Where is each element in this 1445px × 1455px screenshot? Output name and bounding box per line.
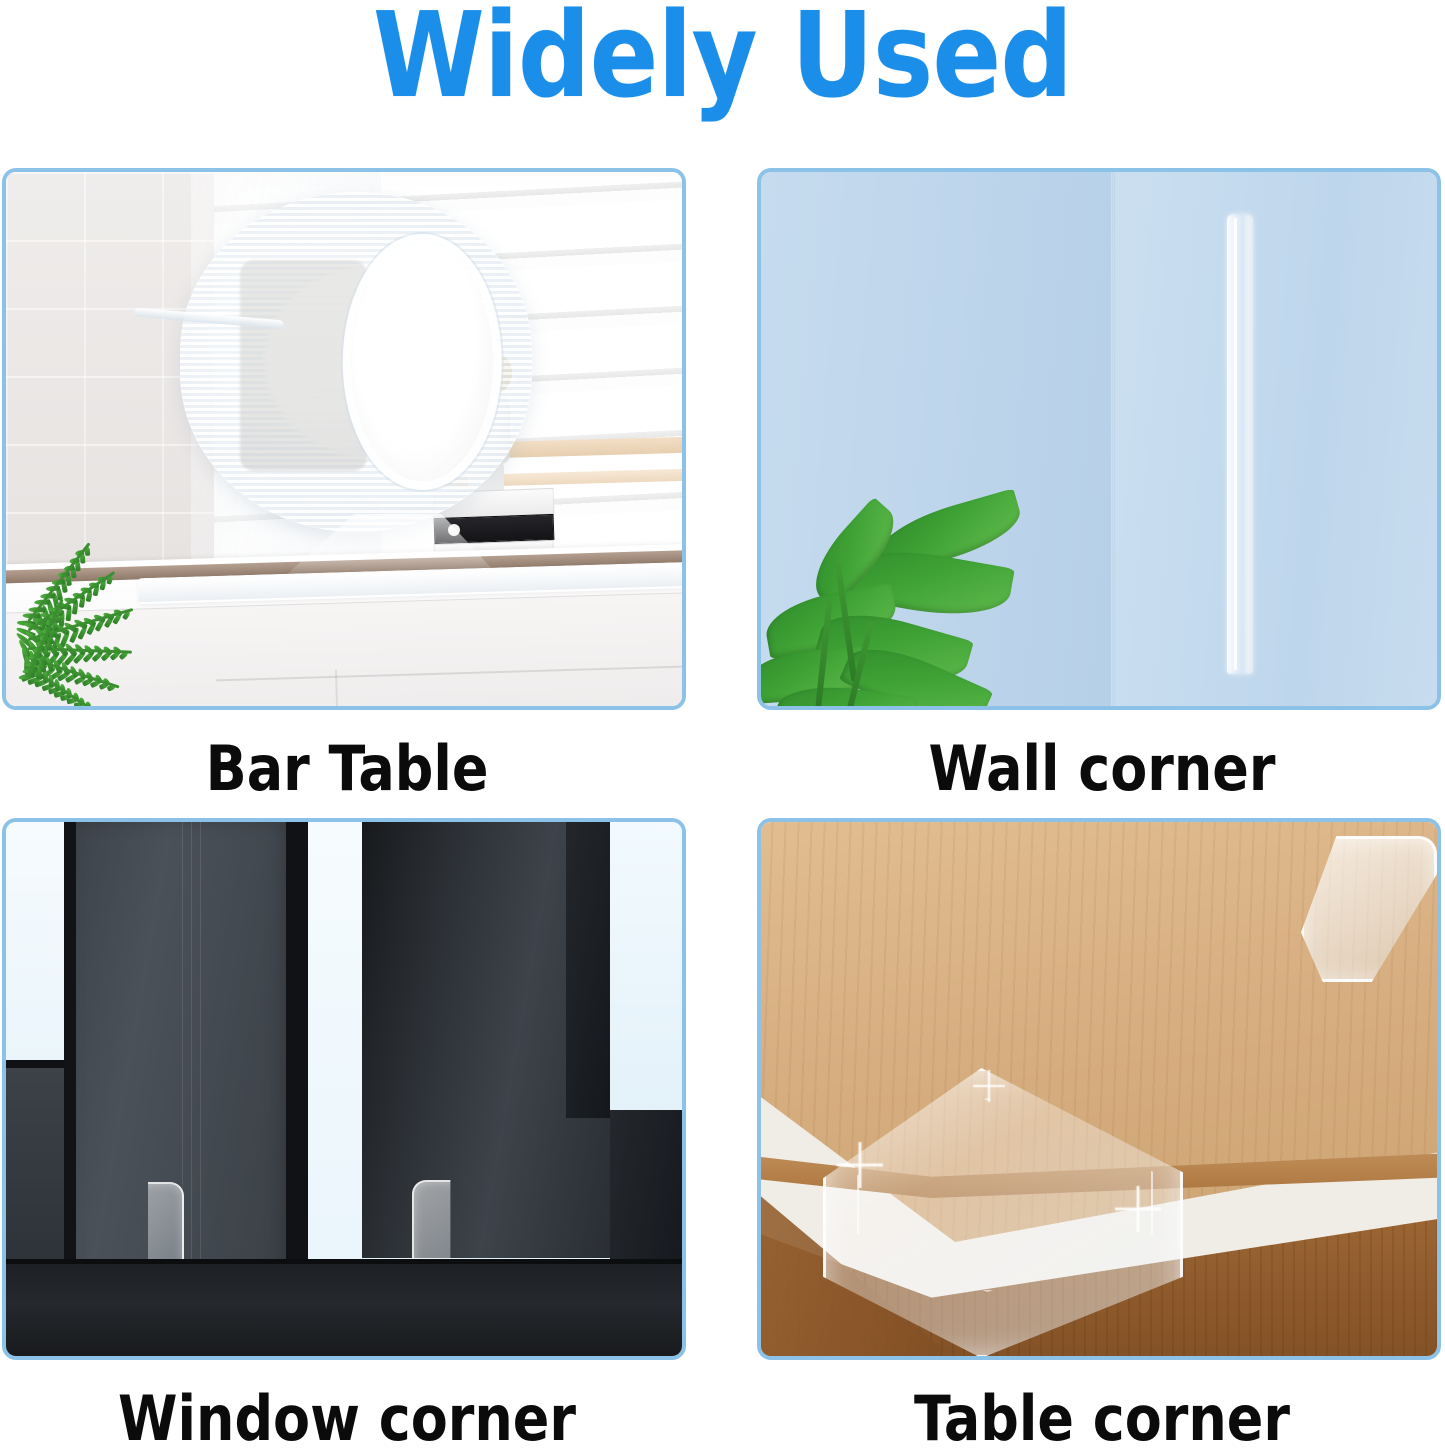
window-sill-left-top [6, 1060, 68, 1068]
wall-right-face [1113, 172, 1441, 706]
sparkle-icon [1115, 1186, 1161, 1232]
photo-table-corner[interactable] [757, 818, 1441, 1360]
window-frame-right-edge [566, 818, 610, 1118]
wall-corner-edge [1111, 172, 1115, 706]
page-title: Widely Used [101, 0, 1344, 116]
window-glass-right [610, 818, 686, 1118]
tape-roll [180, 192, 532, 532]
photo-bar-table[interactable] [2, 168, 686, 710]
tape-roll-hole [352, 243, 493, 481]
panel-wall-corner[interactable]: Wall corner [757, 168, 1445, 804]
caption-table-corner: Table corner [802, 1384, 1402, 1454]
panel-bar-table[interactable]: Bar Table [2, 168, 692, 804]
photo-window-corner[interactable] [2, 818, 686, 1360]
sparkle-icon [973, 1070, 1005, 1102]
window-frame-left-grooves [182, 818, 208, 1300]
photo-wall-corner[interactable] [757, 168, 1441, 710]
window-sill [2, 1264, 686, 1360]
wall-corner-guard [1227, 214, 1253, 674]
tape-roll-shadow [240, 260, 367, 471]
green-plant [757, 502, 1057, 710]
panel-window-corner[interactable]: Window corner [2, 818, 692, 1454]
caption-window-corner: Window corner [47, 1384, 647, 1454]
table-corner-guard [823, 1068, 1183, 1358]
sparkle-icon [837, 1142, 883, 1188]
caption-wall-corner: Wall corner [802, 734, 1402, 804]
panel-table-corner[interactable]: Table corner [757, 818, 1445, 1454]
fern-plant [2, 572, 138, 710]
panel-grid: Bar Table Wall corner [0, 168, 1445, 1438]
caption-bar-table: Bar Table [47, 734, 647, 804]
window-frame-right-lower [610, 1110, 686, 1282]
